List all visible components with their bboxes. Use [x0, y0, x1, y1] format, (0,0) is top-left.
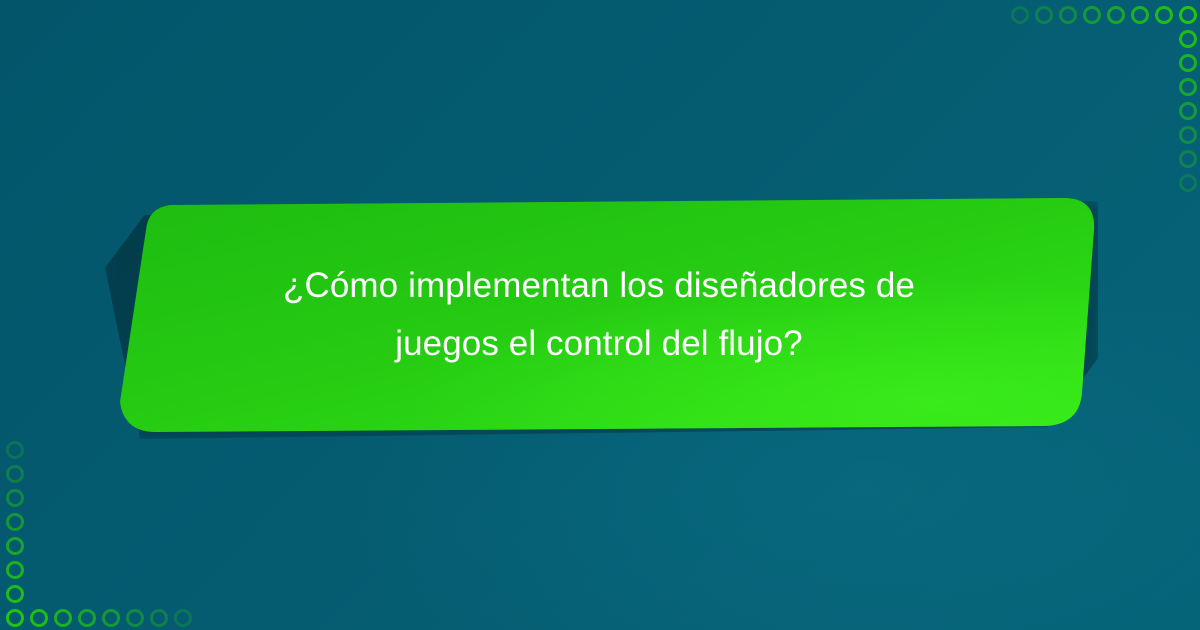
headline-line-1: ¿Cómo implementan los diseñadores de [283, 257, 915, 315]
headline-line-2: juegos el control del flujo? [395, 315, 803, 373]
banner-headline: ¿Cómo implementan los diseñadores de jue… [96, 196, 1102, 434]
question-banner: ¿Cómo implementan los diseñadores de jue… [96, 196, 1102, 434]
slide-canvas: ¿Cómo implementan los diseñadores de jue… [0, 0, 1200, 630]
